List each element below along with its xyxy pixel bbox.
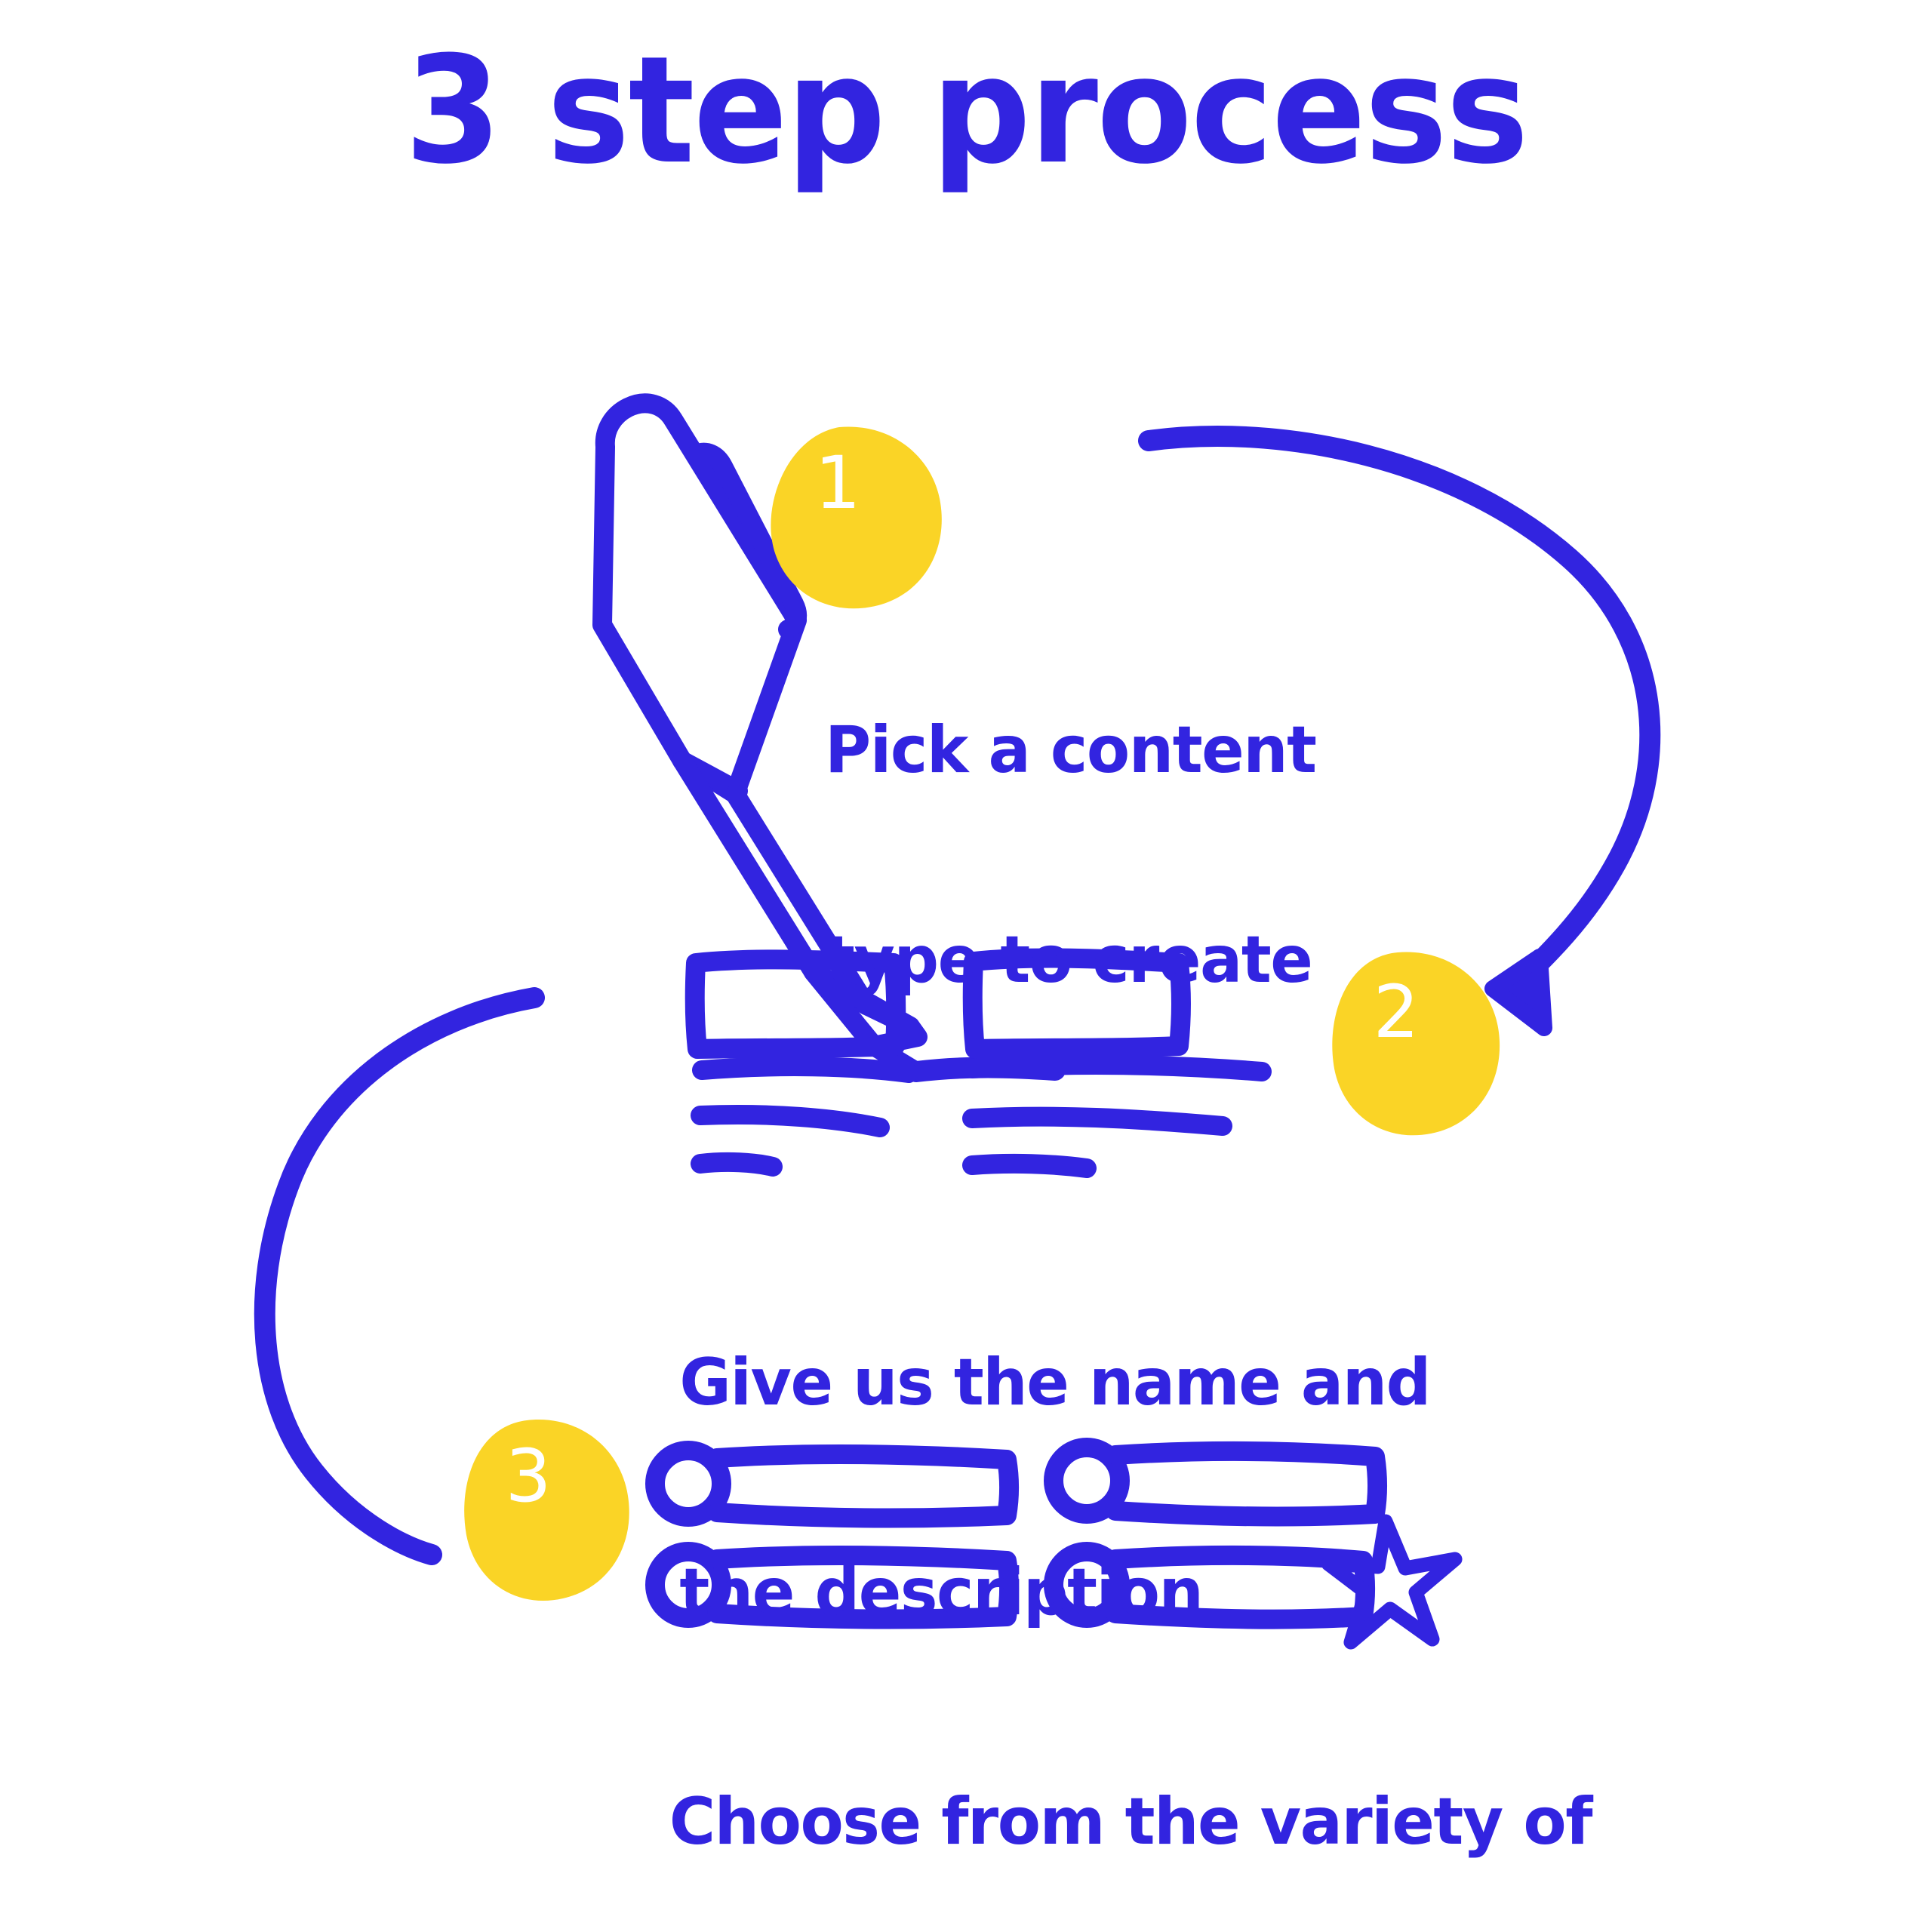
step-1-caption-line-2: type to create <box>825 925 1316 995</box>
infographic-canvas: 3 step process 1 2 3 Pick a content type… <box>0 0 1932 1932</box>
step-3-caption-line-1: Choose from the variety of <box>669 1787 1592 1857</box>
step-1-badge-number: 1 <box>796 447 879 519</box>
step-3-caption: Choose from the variety of content being… <box>669 1647 1592 1932</box>
step-2-caption-line-1: Give us the name and <box>679 1348 1430 1418</box>
step-2-caption-line-2: the description <box>679 1558 1430 1628</box>
arrow-step1-to-step2-head <box>1493 957 1544 1028</box>
step-3-badge-number: 3 <box>487 1440 570 1512</box>
step-1-caption-line-1: Pick a content <box>825 715 1316 786</box>
page-title: 3 step process <box>58 32 1874 192</box>
step-1-caption: Pick a content type to create <box>825 575 1316 1136</box>
step-2-badge-number: 2 <box>1355 976 1438 1048</box>
